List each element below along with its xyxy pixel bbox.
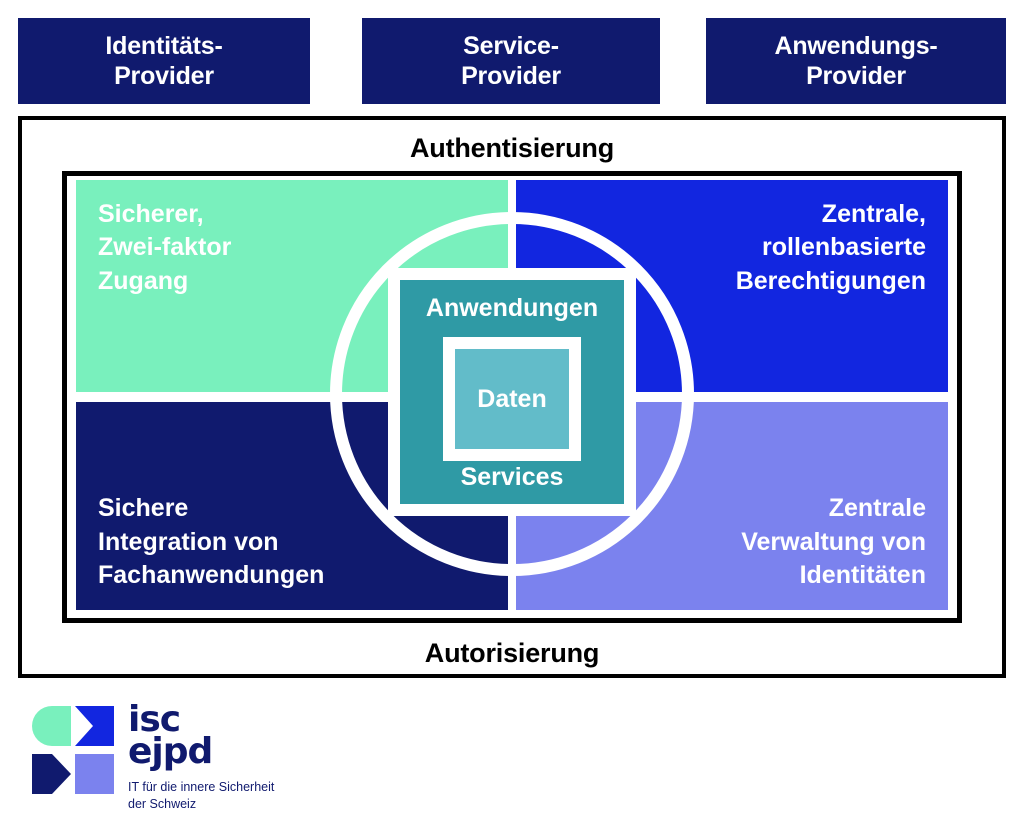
- provider-label-line1: Identitäts-: [105, 31, 222, 62]
- quadrant-label-line3: Fachanwendungen: [98, 559, 486, 592]
- quadrant-label-line2: rollenbasierte: [538, 231, 926, 264]
- core-services-label: Services: [400, 463, 624, 492]
- quadrant-label-line2: Integration von: [98, 526, 486, 559]
- isc-ejpd-logo: isc ejpd IT für die innere Sicherheit de…: [32, 706, 452, 806]
- provider-label-line1: Anwendungs-: [774, 31, 937, 62]
- core-data-box: Daten: [455, 349, 569, 449]
- core-data-label: Daten: [477, 385, 546, 414]
- authentication-band-label: Authentisierung: [0, 133, 1024, 164]
- quadrant-label-line2: Verwaltung von: [538, 526, 926, 559]
- logo-tagline: IT für die innere Sicherheit der Schweiz: [128, 779, 274, 812]
- provider-label-line1: Service-: [463, 31, 559, 62]
- authorization-band-label: Autorisierung: [0, 638, 1024, 669]
- quadrant-label-line2: Zwei-faktor: [98, 231, 486, 264]
- provider-box-application: Anwendungs- Provider: [706, 18, 1006, 104]
- provider-banner-row: Identitäts- Provider Service- Provider A…: [0, 0, 1024, 110]
- quadrant-label-line3: Identitäten: [538, 559, 926, 592]
- isc-ejpd-logo-text: isc ejpd IT für die innere Sicherheit de…: [128, 704, 274, 812]
- logo-word-ejpd: ejpd: [128, 736, 274, 768]
- logo-tagline-line2: der Schweiz: [128, 796, 274, 812]
- core-applications-label: Anwendungen: [400, 294, 624, 323]
- quadrant-label-line1: Zentrale,: [538, 198, 926, 231]
- provider-label-line2: Provider: [461, 61, 561, 92]
- diagram-canvas: Identitäts- Provider Service- Provider A…: [0, 0, 1024, 827]
- provider-box-identity: Identitäts- Provider: [18, 18, 310, 104]
- logo-tagline-line1: IT für die innere Sicherheit: [128, 779, 274, 795]
- isc-ejpd-logo-mark-icon: [32, 706, 114, 794]
- provider-label-line2: Provider: [806, 61, 906, 92]
- provider-label-line2: Provider: [114, 61, 214, 92]
- quadrant-label-line1: Sicherer,: [98, 198, 486, 231]
- provider-box-service: Service- Provider: [362, 18, 660, 104]
